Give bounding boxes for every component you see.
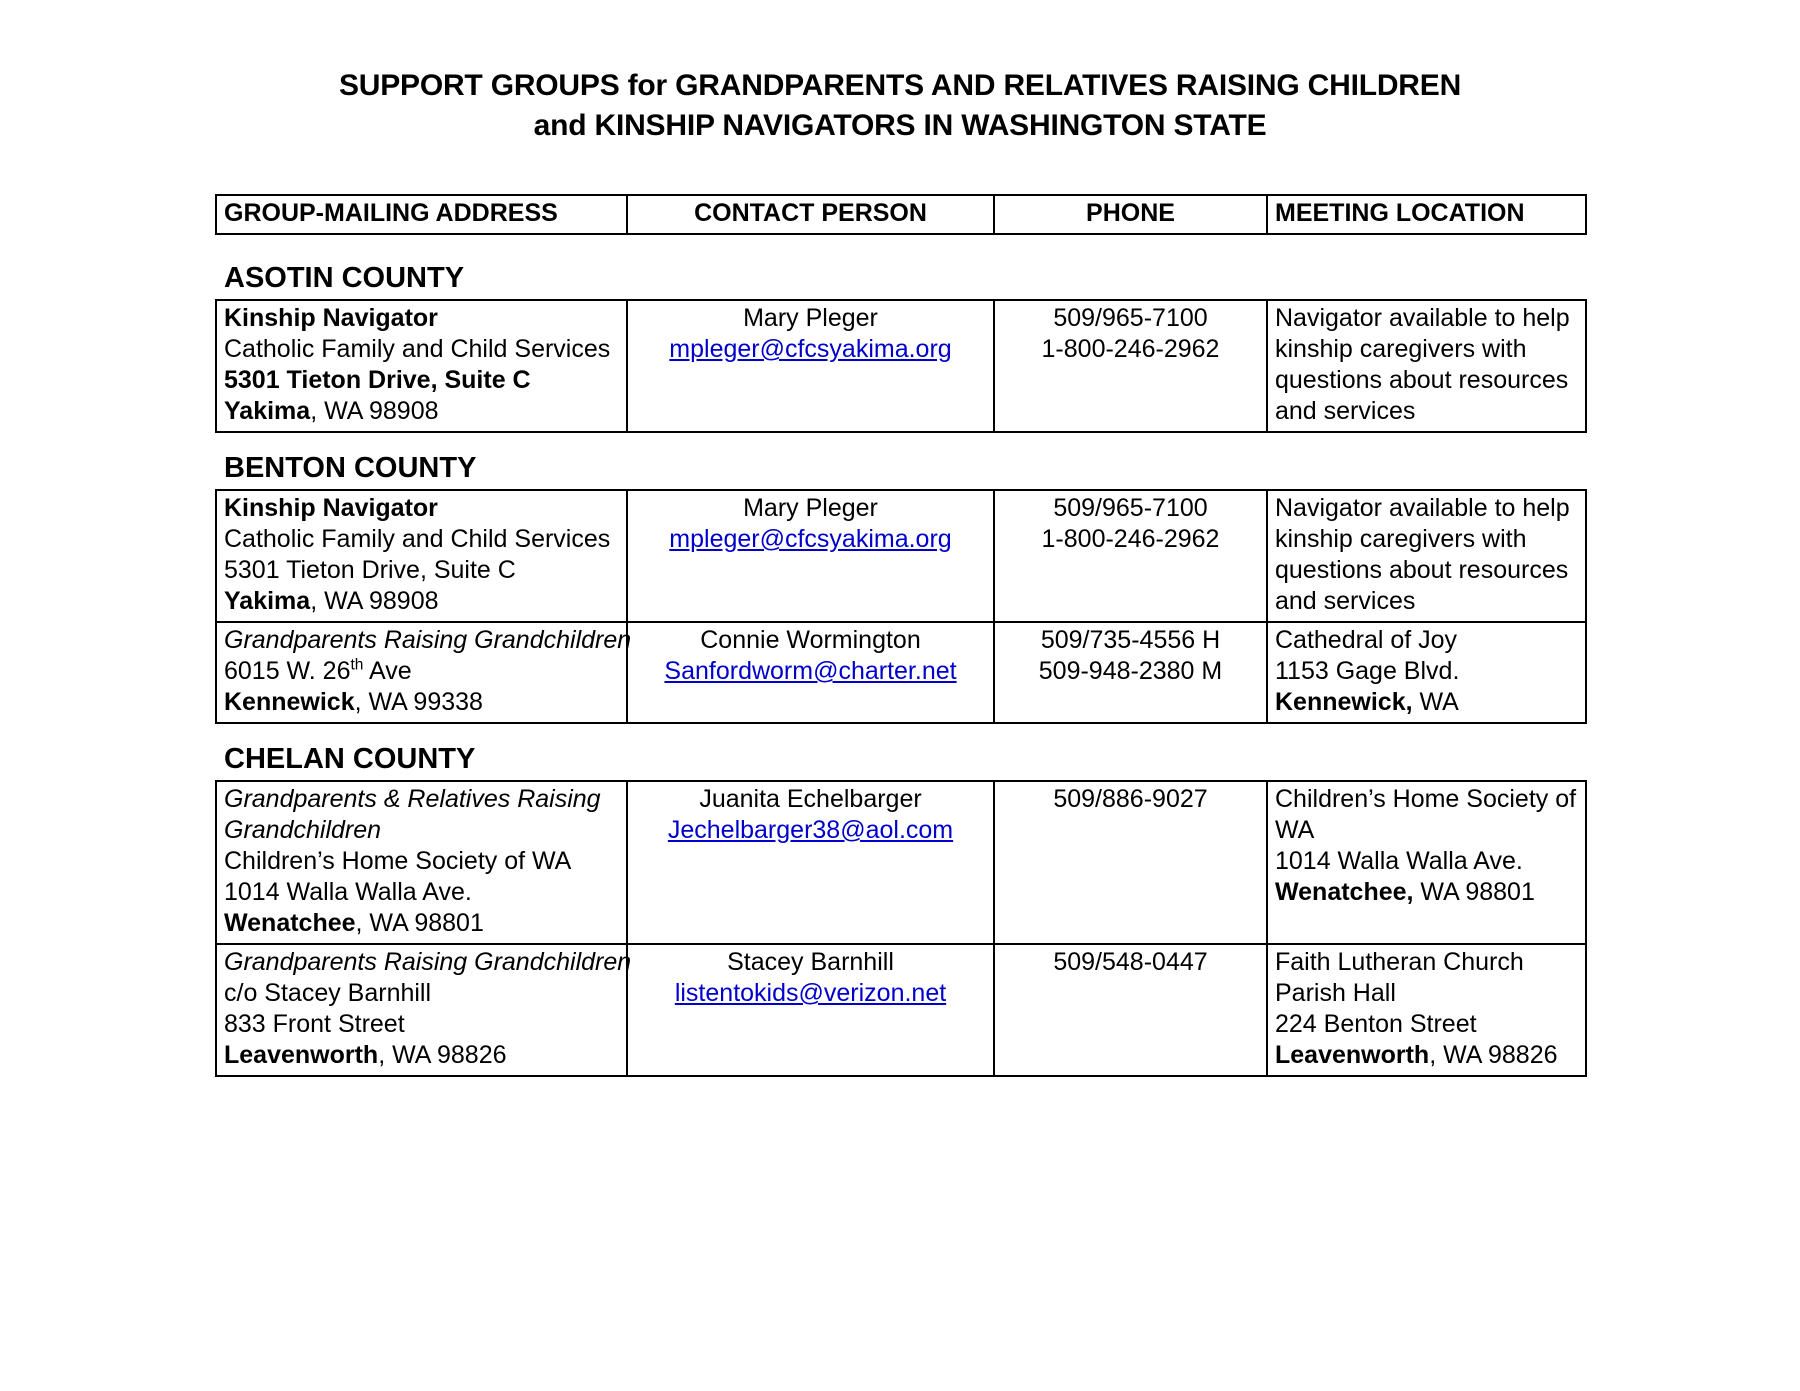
title-line-1: SUPPORT GROUPS for GRANDPARENTS AND RELA… [339,69,1461,102]
county-table-benton: Kinship Navigator Catholic Family and Ch… [215,489,1587,724]
cell-group-mailing-address: Grandparents Raising Grandchildren c/o S… [216,944,627,1076]
cell-phone: 509/886-9027 [994,781,1267,944]
location-line-2: WA [1275,815,1578,846]
org-name: Grandparents Raising Grandchildren [224,625,619,656]
cell-group-mailing-address: Kinship Navigator Catholic Family and Ch… [216,300,627,432]
org-state-zip: , WA 98801 [356,909,484,937]
title-line-2: and KINSHIP NAVIGATORS IN WASHINGTON STA… [120,106,1680,146]
contact-name: Stacey Barnhill [635,947,986,978]
column-header-group-mailing-address: GROUP-MAILING ADDRESS [216,195,627,234]
phone-toll-free: 1-800-246-2962 [1002,524,1259,555]
cell-meeting-location: Navigator available to help kinship care… [1267,300,1586,432]
location-line-1: Navigator available to help [1275,303,1578,334]
org-care-of: c/o Stacey Barnhill [224,978,619,1009]
cell-phone: 509/965-7100 1-800-246-2962 [994,300,1267,432]
location-line-3: 224 Benton Street [1275,1009,1578,1040]
cell-meeting-location: Cathedral of Joy 1153 Gage Blvd. Kennewi… [1267,622,1586,723]
contact-name: Mary Pleger [635,493,986,524]
org-street: 5301 Tieton Drive, Suite C [224,555,619,586]
phone-home: 509/735-4556 H [1002,625,1259,656]
contact-email-link[interactable]: mpleger@cfcsyakima.org [669,335,951,363]
org-city-line: Yakima, WA 98908 [224,396,619,427]
table-row: Grandparents Raising Grandchildren 6015 … [216,622,1586,723]
phone-primary: 509/965-7100 [1002,493,1259,524]
cell-group-mailing-address: Kinship Navigator Catholic Family and Ch… [216,490,627,622]
org-street: 1014 Walla Walla Ave. [224,877,619,908]
org-name: Kinship Navigator [224,493,619,524]
org-street: 6015 W. 26th Ave [224,656,619,687]
org-state-zip: , WA 99338 [355,688,483,716]
phone-mobile: 509-948-2380 M [1002,656,1259,687]
contact-email-wrap: listentokids@verizon.net [635,978,986,1009]
contact-email-link[interactable]: Jechelbarger38@aol.com [668,816,953,844]
cell-contact-person: Mary Pleger mpleger@cfcsyakima.org [627,490,994,622]
location-city: Leavenworth [1275,1041,1429,1069]
table-row: Grandparents & Relatives Raising Grandch… [216,781,1586,944]
cell-meeting-location: Navigator available to help kinship care… [1267,490,1586,622]
county-heading-asotin: ASOTIN COUNTY [215,235,1585,299]
org-street-pre: 6015 W. 26 [224,657,350,685]
location-city-line: Wenatchee, WA 98801 [1275,877,1578,908]
phone-primary: 509/965-7100 [1002,303,1259,334]
org-street-ordinal-suffix: th [350,657,363,674]
org-city: Leavenworth [224,1041,378,1069]
org-street: 5301 Tieton Drive, Suite C [224,365,619,396]
column-header-phone: PHONE [994,195,1267,234]
org-city-line: Yakima, WA 98908 [224,586,619,617]
contact-name: Mary Pleger [635,303,986,334]
cell-meeting-location: Faith Lutheran Church Parish Hall 224 Be… [1267,944,1586,1076]
location-line-4: and services [1275,396,1578,427]
contact-email-link[interactable]: listentokids@verizon.net [675,979,946,1007]
location-city-line: Kennewick, WA [1275,687,1578,718]
org-agency: Catholic Family and Child Services [224,334,619,365]
table-row: Kinship Navigator Catholic Family and Ch… [216,300,1586,432]
location-line-3: questions about resources [1275,555,1578,586]
phone-primary: 509/886-9027 [1002,784,1259,815]
org-city-line: Kennewick, WA 99338 [224,687,619,718]
location-line-2: 1153 Gage Blvd. [1275,656,1578,687]
support-groups-table-wrap: GROUP-MAILING ADDRESS CONTACT PERSON PHO… [215,146,1585,1077]
contact-email-wrap: mpleger@cfcsyakima.org [635,334,986,365]
location-line-1: Cathedral of Joy [1275,625,1578,656]
org-city: Kennewick [224,688,355,716]
org-state-zip: , WA 98908 [310,587,438,615]
location-line-4: and services [1275,586,1578,617]
table-row: Grandparents Raising Grandchildren c/o S… [216,944,1586,1076]
county-table-chelan: Grandparents & Relatives Raising Grandch… [215,780,1587,1077]
org-city: Yakima [224,397,310,425]
cell-phone: 509/965-7100 1-800-246-2962 [994,490,1267,622]
table-header: GROUP-MAILING ADDRESS CONTACT PERSON PHO… [215,194,1587,235]
location-line-2: kinship caregivers with [1275,334,1578,365]
cell-phone: 509/548-0447 [994,944,1267,1076]
location-line-2: Parish Hall [1275,978,1578,1009]
contact-name: Connie Wormington [635,625,986,656]
cell-contact-person: Stacey Barnhill listentokids@verizon.net [627,944,994,1076]
location-line-3: 1014 Walla Walla Ave. [1275,846,1578,877]
county-heading-chelan: CHELAN COUNTY [215,724,1585,780]
contact-name: Juanita Echelbarger [635,784,986,815]
org-name-cont: Grandchildren [224,815,619,846]
contact-email-link[interactable]: mpleger@cfcsyakima.org [669,525,951,553]
column-header-meeting-location: MEETING LOCATION [1267,195,1586,234]
location-city: Wenatchee, [1275,878,1413,906]
org-state-zip: , WA 98826 [378,1041,506,1069]
org-name: Kinship Navigator [224,303,619,334]
org-state-zip: , WA 98908 [310,397,438,425]
location-state: WA [1413,688,1459,716]
county-heading-benton: BENTON COUNTY [215,433,1585,489]
contact-email-wrap: Sanfordworm@charter.net [635,656,986,687]
location-line-1: Children’s Home Society of [1275,784,1578,815]
org-name: Grandparents & Relatives Raising [224,784,619,815]
cell-group-mailing-address: Grandparents & Relatives Raising Grandch… [216,781,627,944]
location-city-line: Leavenworth, WA 98826 [1275,1040,1578,1071]
phone-toll-free: 1-800-246-2962 [1002,334,1259,365]
org-city-line: Wenatchee, WA 98801 [224,908,619,939]
org-city: Wenatchee [224,909,356,937]
org-agency: Children’s Home Society of WA [224,846,619,877]
org-name: Grandparents Raising Grandchildren [224,947,619,978]
phone-primary: 509/548-0447 [1002,947,1259,978]
org-city-line: Leavenworth, WA 98826 [224,1040,619,1071]
location-state-zip: , WA 98826 [1429,1041,1557,1069]
cell-group-mailing-address: Grandparents Raising Grandchildren 6015 … [216,622,627,723]
org-city: Yakima [224,587,310,615]
org-street: 833 Front Street [224,1009,619,1040]
location-line-2: kinship caregivers with [1275,524,1578,555]
page-title: SUPPORT GROUPS for GRANDPARENTS AND RELA… [120,0,1680,146]
contact-email-wrap: Jechelbarger38@aol.com [635,815,986,846]
cell-contact-person: Juanita Echelbarger Jechelbarger38@aol.c… [627,781,994,944]
county-table-asotin: Kinship Navigator Catholic Family and Ch… [215,299,1587,433]
column-header-contact-person: CONTACT PERSON [627,195,994,234]
org-agency: Catholic Family and Child Services [224,524,619,555]
org-street-post: Ave [363,657,411,685]
location-line-1: Navigator available to help [1275,493,1578,524]
location-line-3: questions about resources [1275,365,1578,396]
cell-contact-person: Connie Wormington Sanfordworm@charter.ne… [627,622,994,723]
contact-email-wrap: mpleger@cfcsyakima.org [635,524,986,555]
document-page: SUPPORT GROUPS for GRANDPARENTS AND RELA… [0,0,1800,1391]
location-state-zip: WA 98801 [1413,878,1534,906]
cell-meeting-location: Children’s Home Society of WA 1014 Walla… [1267,781,1586,944]
cell-phone: 509/735-4556 H 509-948-2380 M [994,622,1267,723]
cell-contact-person: Mary Pleger mpleger@cfcsyakima.org [627,300,994,432]
table-row: Kinship Navigator Catholic Family and Ch… [216,490,1586,622]
table-header-row: GROUP-MAILING ADDRESS CONTACT PERSON PHO… [216,195,1586,234]
location-city: Kennewick, [1275,688,1413,716]
contact-email-link[interactable]: Sanfordworm@charter.net [664,657,956,685]
location-line-1: Faith Lutheran Church [1275,947,1578,978]
